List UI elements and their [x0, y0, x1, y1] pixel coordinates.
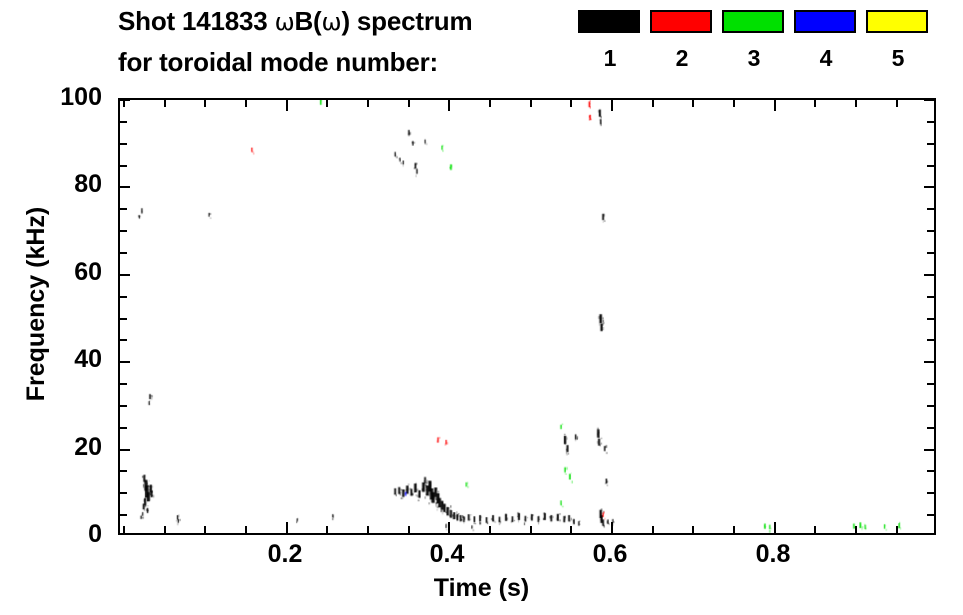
y-tick-right-25	[927, 427, 934, 429]
x-tick-0.55	[570, 526, 572, 533]
y-tick-70	[120, 230, 127, 232]
x-tick-top-0.15	[245, 100, 247, 107]
x-tick-top-0.2	[286, 100, 288, 111]
y-tick-right-70	[927, 230, 934, 232]
y-tick-5	[120, 514, 127, 516]
y-tick-right-55	[927, 296, 934, 298]
title-suffix: ) spectrum	[341, 6, 472, 36]
y-tick-55	[120, 296, 127, 298]
x-tick-top-0.1	[204, 100, 206, 107]
x-tick-0.45	[489, 526, 491, 533]
x-tick-0.75	[733, 526, 735, 533]
x-tick-top-0.25	[326, 100, 328, 107]
figure-title-line-2: for toroidal mode number:	[118, 47, 438, 78]
y-tick-35	[120, 383, 127, 385]
omega-symbol-2: ω	[322, 8, 342, 36]
legend-item-2: 2	[650, 10, 714, 70]
x-tick-top-0.7	[692, 100, 694, 107]
x-tick-0.8	[774, 522, 776, 533]
x-tick-0.85	[814, 526, 816, 533]
x-tick-0.65	[652, 526, 654, 533]
x-tick-top-0.6	[611, 100, 613, 111]
x-tick-0.7	[692, 526, 694, 533]
omega-symbol-1: ω	[275, 8, 295, 36]
x-tick-0.25	[326, 526, 328, 533]
title-prefix: Shot 141833	[118, 6, 275, 36]
y-tick-right-90	[927, 143, 934, 145]
x-tick-label-0.4: 0.4	[430, 540, 465, 569]
x-tick-0.3	[367, 526, 369, 533]
x-tick-top-0.85	[814, 100, 816, 107]
y-tick-80	[120, 186, 130, 188]
y-tick-15	[120, 470, 127, 472]
y-tick-right-50	[927, 318, 934, 320]
y-tick-right-60	[924, 274, 934, 276]
x-tick-0.1	[204, 526, 206, 533]
x-tick-top-0.55	[570, 100, 572, 107]
y-tick-label-20: 20	[74, 435, 102, 460]
legend-swatch-3	[722, 10, 784, 33]
y-tick-100	[120, 99, 130, 101]
y-tick-right-30	[927, 405, 934, 407]
y-tick-90	[120, 143, 127, 145]
legend-label-5: 5	[866, 47, 930, 70]
legend-item-1: 1	[578, 10, 642, 70]
x-tick-top-0.4	[448, 100, 450, 111]
x-tick-0.5	[530, 526, 532, 533]
y-tick-75	[120, 208, 127, 210]
legend-item-4: 4	[794, 10, 858, 70]
y-tick-40	[120, 361, 130, 363]
x-tick-label-0.2: 0.2	[268, 540, 303, 569]
x-axis-title: Time (s)	[0, 574, 963, 602]
spectrogram-canvas	[120, 100, 934, 533]
y-tick-right-15	[927, 470, 934, 472]
y-tick-label-0: 0	[88, 522, 102, 547]
y-tick-right-10	[927, 492, 934, 494]
legend-item-5: 5	[866, 10, 930, 70]
x-tick-top-0.9	[855, 100, 857, 107]
y-tick-right-40	[924, 361, 934, 363]
x-tick-top-0.45	[489, 100, 491, 107]
figure-title-line-1: Shot 141833 ωB(ω) spectrum	[118, 6, 472, 37]
y-tick-65	[120, 252, 127, 254]
y-tick-right-95	[927, 121, 934, 123]
x-tick-label-0.8: 0.8	[756, 540, 791, 569]
x-axis-tick-labels: 0.20.40.60.8	[118, 540, 936, 574]
y-tick-right-85	[927, 165, 934, 167]
x-tick-0.15	[245, 526, 247, 533]
y-tick-45	[120, 339, 127, 341]
y-tick-right-20	[924, 449, 934, 451]
x-tick-label-0.6: 0.6	[593, 540, 628, 569]
y-tick-60	[120, 274, 130, 276]
y-tick-right-100	[924, 99, 934, 101]
y-tick-label-40: 40	[74, 347, 102, 372]
legend: 12345	[578, 10, 958, 88]
y-tick-10	[120, 492, 127, 494]
x-tick-top-0.65	[652, 100, 654, 107]
y-tick-label-100: 100	[60, 85, 102, 110]
y-tick-right-35	[927, 383, 934, 385]
y-tick-right-45	[927, 339, 934, 341]
y-tick-right-75	[927, 208, 934, 210]
x-tick-0.9	[855, 526, 857, 533]
x-tick-top-0.95	[896, 100, 898, 107]
x-tick-top-0	[123, 100, 125, 107]
x-tick-0	[123, 526, 125, 533]
legend-swatch-4	[794, 10, 856, 33]
x-tick-top-0.3	[367, 100, 369, 107]
y-tick-label-80: 80	[74, 172, 102, 197]
x-tick-top-0.8	[774, 100, 776, 111]
y-tick-label-60: 60	[74, 260, 102, 285]
legend-swatch-5	[866, 10, 928, 33]
y-tick-85	[120, 165, 127, 167]
y-tick-30	[120, 405, 127, 407]
y-axis-title: Frequency (kHz)	[22, 184, 50, 424]
legend-item-3: 3	[722, 10, 786, 70]
legend-label-1: 1	[578, 47, 642, 70]
y-tick-right-80	[924, 186, 934, 188]
y-tick-20	[120, 449, 130, 451]
x-tick-top-0.75	[733, 100, 735, 107]
y-tick-right-5	[927, 514, 934, 516]
legend-label-2: 2	[650, 47, 714, 70]
plot-frame	[118, 98, 936, 535]
x-tick-0.4	[448, 522, 450, 533]
x-tick-top-0.5	[530, 100, 532, 107]
x-tick-0.2	[286, 522, 288, 533]
title-mid: B(	[294, 6, 321, 36]
y-tick-right-65	[927, 252, 934, 254]
legend-label-3: 3	[722, 47, 786, 70]
y-tick-95	[120, 121, 127, 123]
y-tick-25	[120, 427, 127, 429]
legend-swatch-1	[578, 10, 640, 33]
x-tick-0.6	[611, 522, 613, 533]
legend-swatch-2	[650, 10, 712, 33]
legend-label-4: 4	[794, 47, 858, 70]
x-tick-top-0.05	[164, 100, 166, 107]
x-tick-0.95	[896, 526, 898, 533]
x-tick-top-0.35	[408, 100, 410, 107]
y-tick-50	[120, 318, 127, 320]
y-axis-tick-labels: 020406080100	[0, 98, 110, 535]
x-tick-0.35	[408, 526, 410, 533]
x-tick-0.05	[164, 526, 166, 533]
